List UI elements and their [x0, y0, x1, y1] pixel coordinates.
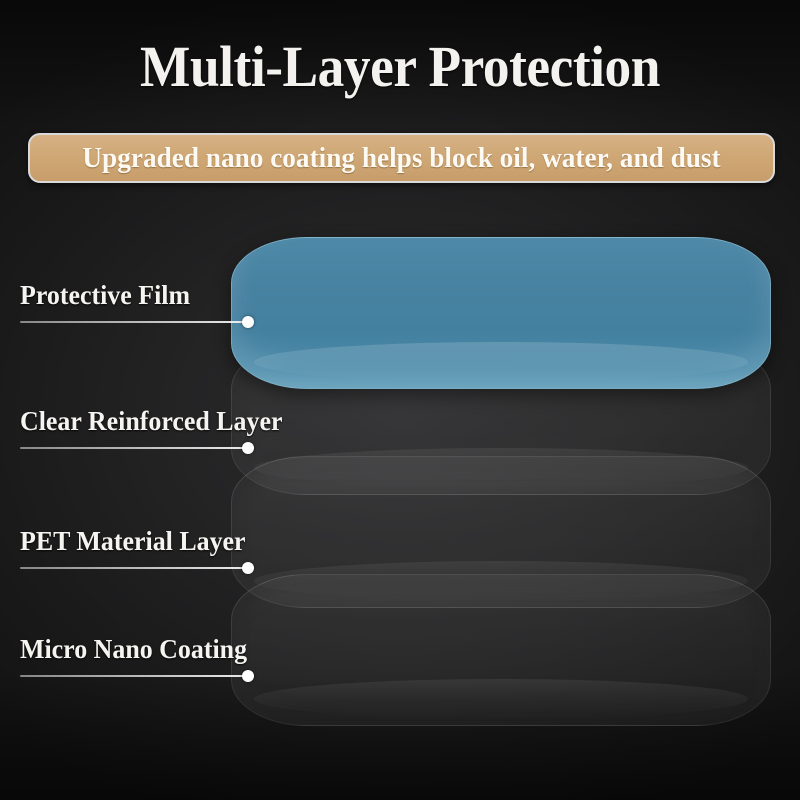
leader-line-icon [20, 321, 248, 323]
callout-pet-material-layer: PET Material Layer [20, 526, 255, 574]
leader-dot-icon [242, 670, 254, 682]
leader-protective-film [20, 316, 197, 328]
callout-micro-nano-coating: Micro Nano Coating [20, 634, 257, 682]
callout-clear-reinforced-layer: Clear Reinforced Layer [20, 406, 293, 454]
leader-line-icon [20, 675, 248, 677]
callout-label-micro-nano-coating: Micro Nano Coating [20, 634, 247, 664]
leader-dot-icon [242, 316, 254, 328]
leader-line-icon [20, 567, 248, 569]
product-infographic: Multi-Layer Protection Upgraded nano coa… [0, 0, 800, 800]
callout-label-protective-film: Protective Film [20, 280, 190, 310]
leader-dot-icon [242, 442, 254, 454]
leader-pet-material-layer [20, 562, 255, 574]
leader-dot-icon [242, 562, 254, 574]
callout-protective-film: Protective Film [20, 280, 197, 328]
leader-line-icon [20, 447, 248, 449]
leader-clear-reinforced-layer [20, 442, 293, 454]
layer-stack-diagram: Protective Film Clear Reinforced Layer P… [0, 0, 800, 800]
callout-label-pet-material-layer: PET Material Layer [20, 526, 246, 556]
leader-micro-nano-coating [20, 670, 257, 682]
callout-label-clear-reinforced-layer: Clear Reinforced Layer [20, 406, 283, 436]
layer-protective-film [231, 237, 771, 389]
